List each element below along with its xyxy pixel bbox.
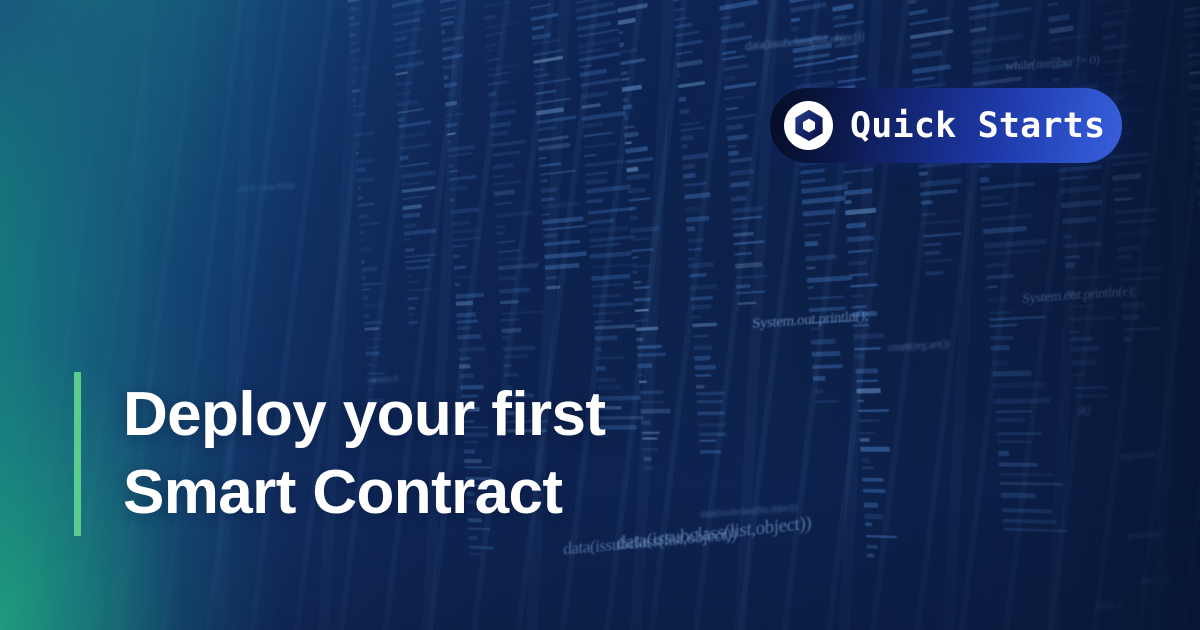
accent-bar [74, 372, 81, 536]
quickstarts-badge[interactable]: Quick Starts [770, 88, 1122, 163]
headline-line-2: Smart Contract [123, 454, 605, 532]
page-title: Deploy your first Smart Contract [123, 372, 605, 536]
chainlink-hexagon-icon [784, 101, 833, 150]
badge-label: Quick Starts [850, 106, 1105, 146]
quickstarts-banner: while(number != 0)data(issubclass(list,o… [0, 0, 1200, 630]
headline-block: Deploy your first Smart Contract [74, 372, 605, 536]
headline-line-1: Deploy your first [123, 376, 605, 454]
